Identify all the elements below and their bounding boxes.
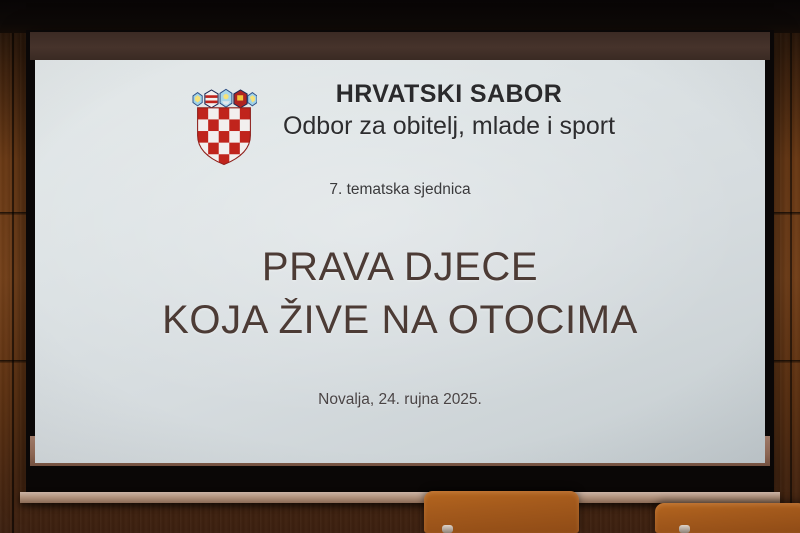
organization-subtitle: Odbor za obitelj, mlade i sport — [283, 111, 615, 142]
conference-room-photo: HRVATSKI SABOR Odbor za obitelj, mlade i… — [0, 0, 800, 533]
session-line: 7. tematska sjednica — [75, 181, 725, 199]
wall-vertical-seam — [790, 0, 792, 533]
screen-bottom-rail — [20, 492, 780, 503]
screen-top-border — [30, 32, 770, 60]
chair-fitting — [679, 525, 690, 533]
slide-main-title: PRAVA DJECE KOJA ŽIVE NA OTOCIMA — [75, 241, 725, 347]
projected-slide: HRVATSKI SABOR Odbor za obitelj, mlade i… — [35, 60, 765, 463]
organization-title: HRVATSKI SABOR — [283, 80, 615, 110]
wooden-chair — [424, 491, 579, 533]
screen-frame-bottom — [26, 466, 774, 492]
croatian-coat-of-arms-icon — [191, 88, 257, 166]
projection-screen: HRVATSKI SABOR Odbor za obitelj, mlade i… — [26, 30, 774, 492]
wooden-chair — [655, 503, 800, 533]
wall-vertical-seam — [12, 0, 14, 533]
slide-content: HRVATSKI SABOR Odbor za obitelj, mlade i… — [35, 60, 765, 463]
main-title-line-1: PRAVA DJECE — [262, 245, 538, 289]
ceiling-shadow — [0, 0, 800, 33]
main-title-line-2: KOJA ŽIVE NA OTOCIMA — [75, 294, 725, 347]
chair-fitting — [442, 525, 453, 533]
slide-header: HRVATSKI SABOR Odbor za obitelj, mlade i… — [75, 78, 725, 166]
slide-footer-location-date: Novalja, 24. rujna 2025. — [75, 391, 725, 409]
slide-header-text: HRVATSKI SABOR Odbor za obitelj, mlade i… — [283, 80, 615, 141]
